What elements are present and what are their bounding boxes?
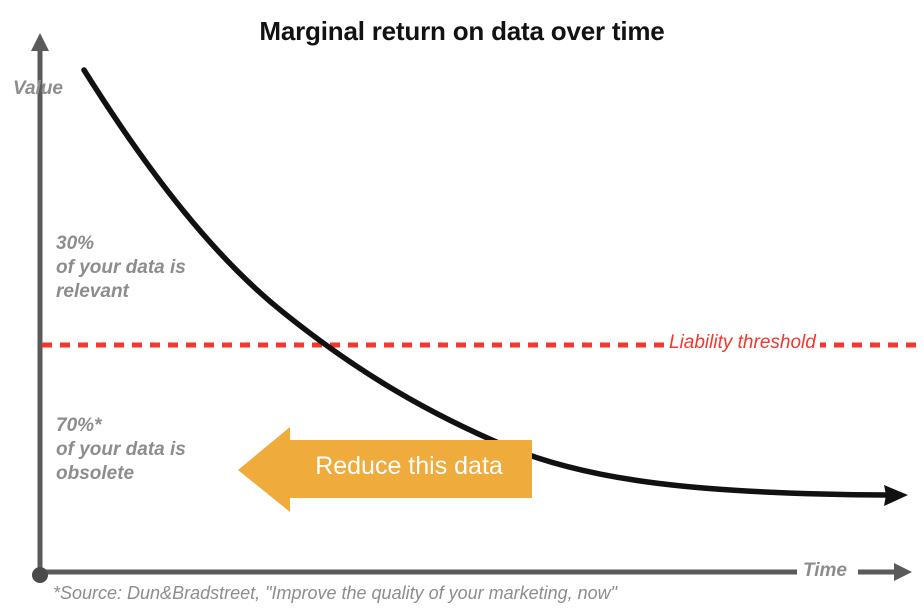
annotation-relevant: 30% of your data is relevant	[56, 232, 186, 304]
annotation-relevant-line1: 30%	[56, 232, 186, 256]
annotation-relevant-line3: relevant	[56, 280, 186, 304]
x-axis-label: Time	[803, 560, 847, 582]
chart-canvas	[0, 0, 924, 613]
annotation-obsolete-line2: of your data is	[56, 438, 186, 462]
annotation-obsolete-line3: obsolete	[56, 462, 186, 486]
annotation-relevant-line2: of your data is	[56, 256, 186, 280]
decay-curve-arrowhead	[884, 485, 908, 506]
annotation-obsolete-line1: 70%*	[56, 414, 186, 438]
chart-figure: Marginal return on data over time Value …	[0, 0, 924, 613]
reduce-data-callout-label: Reduce this data	[296, 452, 522, 481]
source-footnote: *Source: Dun&Bradstreet, "Improve the qu…	[53, 583, 617, 604]
origin-dot	[32, 567, 48, 583]
y-axis-label: Value	[13, 78, 63, 100]
y-axis-arrowhead	[31, 33, 49, 51]
liability-threshold-label: Liability threshold	[665, 332, 820, 354]
x-axis-arrowhead	[894, 563, 912, 581]
annotation-obsolete: 70%* of your data is obsolete	[56, 414, 186, 486]
